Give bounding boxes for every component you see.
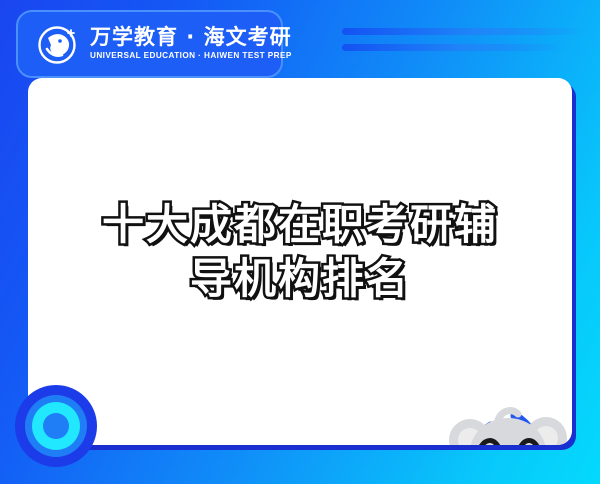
brand-text-group: 万学教育 · 海文考研 UNIVERSAL EDUCATION · HAIWEN…: [90, 26, 292, 62]
swan-circle-logo-icon: [34, 21, 80, 67]
brand-name-cn: 万学教育 · 海文考研: [90, 26, 292, 49]
content-card: 十大成都在职考研辅 导机构排名: [28, 78, 572, 445]
speed-lines-group: [300, 0, 600, 80]
title-line-1: 十大成都在职考研辅: [28, 198, 572, 252]
speed-line-icon: [342, 44, 566, 51]
concentric-ring-icon: [14, 384, 98, 468]
brand-badge[interactable]: 万学教育 · 海文考研 UNIVERSAL EDUCATION · HAIWEN…: [16, 10, 283, 78]
poster-canvas: 十大成都在职考研辅 导机构排名 万学教育 · 海文考研 UNIVERSAL ED…: [0, 0, 600, 484]
page-title: 十大成都在职考研辅 导机构排名: [28, 198, 572, 306]
brand-name-en: UNIVERSAL EDUCATION · HAIWEN TEST PREP: [90, 50, 292, 62]
koala-mascot-icon: [436, 400, 572, 445]
title-line-2: 导机构排名: [28, 252, 572, 306]
speed-line-icon: [342, 28, 586, 35]
